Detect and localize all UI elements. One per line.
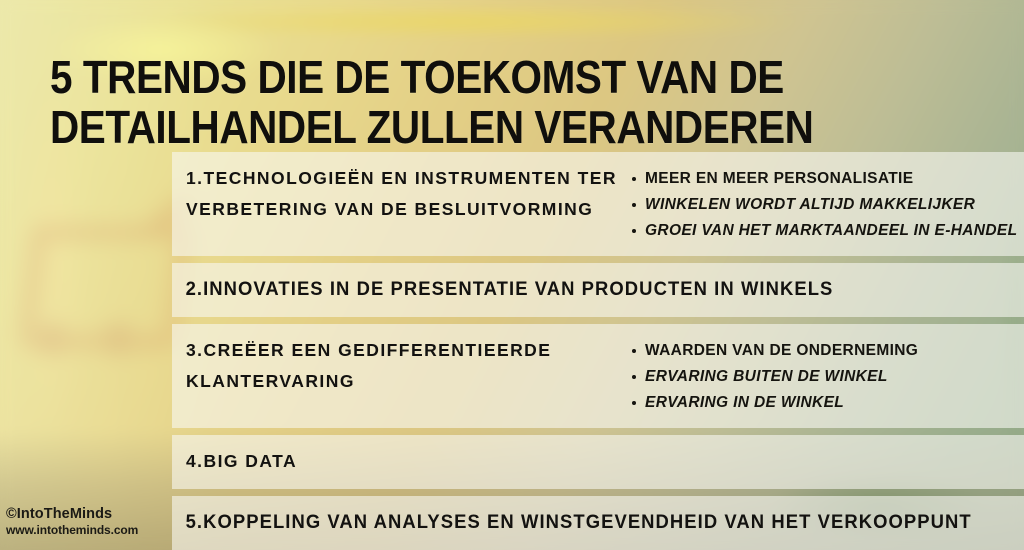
page-title: 5 Trends die de toekomst van de detailha…: [50, 52, 868, 152]
trend-title-2: 2.Innovaties in de presentatie van produ…: [172, 274, 998, 305]
list-item: Meer en meer personalisatie: [630, 166, 1024, 192]
infographic-canvas: 5 Trends die de toekomst van de detailha…: [0, 0, 1024, 550]
list-item: Waarden van de onderneming: [630, 338, 1024, 364]
trend-item-5: 5.Koppeling van analyses en winstgevendh…: [172, 496, 1024, 550]
list-item: Winkelen wordt altijd makkelijker: [630, 192, 1024, 218]
trend-title-3: 3.Creëer een gedifferentieerde klanterva…: [172, 335, 624, 397]
list-item: Groei van het marktaandeel in e-handel: [630, 218, 1024, 244]
brand-name: ©IntoTheMinds: [6, 506, 138, 523]
list-item: Ervaring buiten de winkel: [630, 364, 1024, 390]
trend-item-1: 1.Technologieën en instrumenten ter verb…: [172, 152, 1024, 256]
trend-item-4: 4.Big data: [172, 435, 1024, 489]
trend-title-5: 5.Koppeling van analyses en winstgevendh…: [172, 507, 998, 538]
trend-item-2: 2.Innovaties in de presentatie van produ…: [172, 263, 1024, 317]
cart-wheel-right: [106, 324, 130, 354]
brand-website: www.intotheminds.com: [6, 523, 138, 538]
trend-title-4: 4.Big data: [172, 446, 1024, 477]
trend-title-1: 1.Technologieën en instrumenten ter verb…: [172, 163, 624, 225]
trend-list: 1.Technologieën en instrumenten ter verb…: [172, 152, 1024, 550]
trend-bullets-3: Waarden van de onderneming Ervaring buit…: [624, 335, 1024, 416]
trend-bullets-1: Meer en meer personalisatie Winkelen wor…: [624, 163, 1024, 244]
cart-wheel-left: [40, 324, 64, 354]
credit-block: ©IntoTheMinds www.intotheminds.com: [6, 506, 138, 538]
trend-item-3: 3.Creëer een gedifferentieerde klanterva…: [172, 324, 1024, 428]
list-item: Ervaring in de winkel: [630, 390, 1024, 416]
